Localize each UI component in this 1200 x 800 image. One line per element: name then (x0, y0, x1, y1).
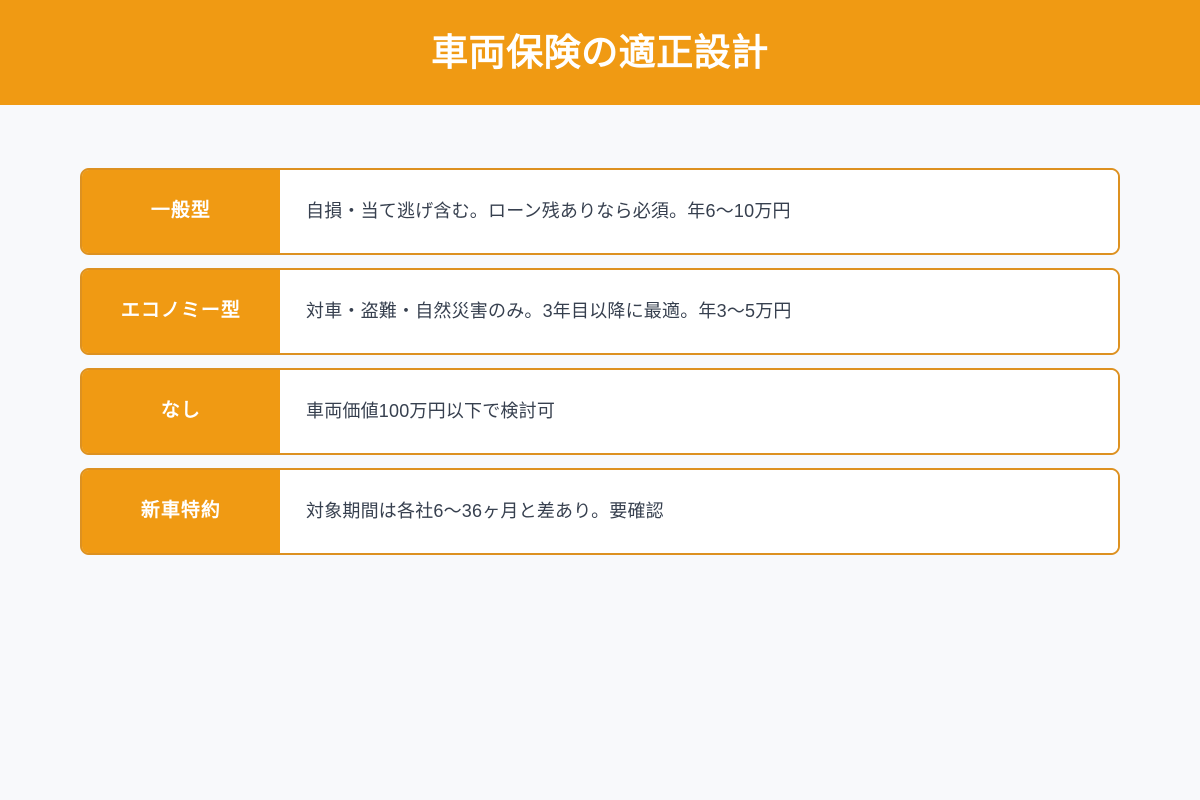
insurance-type-list: 一般型 自損・当て逃げ含む。ローン残ありなら必須。年6〜10万円 エコノミー型 … (80, 168, 1120, 555)
row-label-cell: 新車特約 (82, 470, 280, 553)
row-description-cell: 対象期間は各社6〜36ヶ月と差あり。要確認 (280, 470, 1118, 553)
page-title: 車両保険の適正設計 (431, 34, 769, 71)
row-label-cell: なし (82, 370, 280, 453)
row-description-text: 対象期間は各社6〜36ヶ月と差あり。要確認 (306, 498, 664, 525)
row-label-text: エコノミー型 (121, 300, 241, 323)
row-description-text: 対車・盗難・自然災害のみ。3年目以降に最適。年3〜5万円 (306, 298, 792, 325)
row-label-text: 新車特約 (141, 500, 221, 523)
list-item[interactable]: 一般型 自損・当て逃げ含む。ローン残ありなら必須。年6〜10万円 (80, 168, 1120, 255)
row-description-cell: 対車・盗難・自然災害のみ。3年目以降に最適。年3〜5万円 (280, 270, 1118, 353)
header-bar: 車両保険の適正設計 (0, 0, 1200, 105)
row-label-text: なし (161, 400, 201, 423)
row-label-cell: 一般型 (82, 170, 280, 253)
list-item[interactable]: なし 車両価値100万円以下で検討可 (80, 368, 1120, 455)
list-item[interactable]: エコノミー型 対車・盗難・自然災害のみ。3年目以降に最適。年3〜5万円 (80, 268, 1120, 355)
row-description-text: 車両価値100万円以下で検討可 (306, 398, 555, 425)
row-label-text: 一般型 (151, 200, 211, 223)
row-description-cell: 車両価値100万円以下で検討可 (280, 370, 1118, 453)
row-description-cell: 自損・当て逃げ含む。ローン残ありなら必須。年6〜10万円 (280, 170, 1118, 253)
slide-canvas: 車両保険の適正設計 一般型 自損・当て逃げ含む。ローン残ありなら必須。年6〜10… (0, 0, 1200, 800)
row-description-text: 自損・当て逃げ含む。ローン残ありなら必須。年6〜10万円 (306, 198, 791, 225)
row-label-cell: エコノミー型 (82, 270, 280, 353)
list-item[interactable]: 新車特約 対象期間は各社6〜36ヶ月と差あり。要確認 (80, 468, 1120, 555)
